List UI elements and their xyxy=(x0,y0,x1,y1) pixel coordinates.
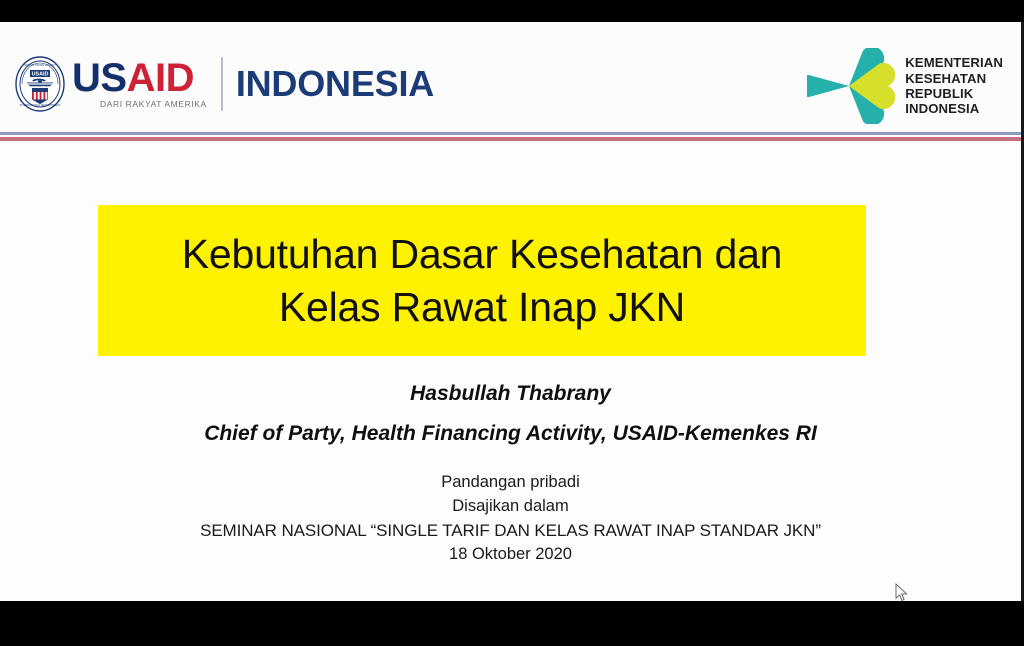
presentation-slide: UNITED STATES AGENCY INTERNATIONAL DEVEL… xyxy=(0,22,1021,601)
slide-title-line-1: Kebutuhan Dasar Kesehatan dan xyxy=(182,228,783,280)
video-player-frame: UNITED STATES AGENCY INTERNATIONAL DEVEL… xyxy=(0,0,1024,646)
author-block: Hasbullah Thabrany Chief of Party, Healt… xyxy=(0,378,1021,450)
kemenkes-line-3: REPUBLIK xyxy=(905,86,973,101)
kemenkes-petal-logo-icon xyxy=(807,48,895,124)
author-role: Chief of Party, Health Financing Activit… xyxy=(0,418,1021,451)
svg-text:USAID: USAID xyxy=(32,72,49,78)
usaid-country-label: INDONESIA xyxy=(236,66,434,102)
kemenkes-line-2: KESEHATAN xyxy=(905,71,986,86)
meta-line-seminar: SEMINAR NASIONAL “SINGLE TARIF DAN KELAS… xyxy=(0,519,1021,544)
usaid-wordmark: USAID DARI RAKYAT AMERIKA xyxy=(72,59,207,109)
author-name: Hasbullah Thabrany xyxy=(0,378,1021,411)
usaid-word-aid: AID xyxy=(127,56,194,100)
event-meta-block: Pandangan pribadi Disajikan dalam SEMINA… xyxy=(0,471,1021,567)
usaid-seal-icon: UNITED STATES AGENCY INTERNATIONAL DEVEL… xyxy=(14,55,66,113)
mouse-cursor-icon xyxy=(895,583,909,603)
meta-line-presented: Disajikan dalam xyxy=(0,495,1021,519)
usaid-word-us: US xyxy=(72,56,127,100)
kemenkes-line-4: INDONESIA xyxy=(905,101,979,116)
svg-text:UNITED STATES AGENCY: UNITED STATES AGENCY xyxy=(24,63,56,67)
meta-line-date: 18 Oktober 2020 xyxy=(0,543,1021,567)
letterbox-bottom xyxy=(0,601,1024,646)
header-rule-red xyxy=(0,137,1021,141)
usaid-tagline: DARI RAKYAT AMERIKA xyxy=(100,100,207,109)
usaid-logo-lockup: UNITED STATES AGENCY INTERNATIONAL DEVEL… xyxy=(14,52,434,116)
usaid-divider xyxy=(221,57,223,111)
slide-title-line-2: Kelas Rawat Inap JKN xyxy=(279,281,685,333)
kemenkes-ministry-label: KEMENTERIAN KESEHATAN REPUBLIK INDONESIA xyxy=(905,55,1003,116)
kemenkes-logo-lockup: KEMENTERIAN KESEHATAN REPUBLIK INDONESIA xyxy=(807,48,1003,124)
slide-header: UNITED STATES AGENCY INTERNATIONAL DEVEL… xyxy=(0,22,1021,132)
kemenkes-line-1: KEMENTERIAN xyxy=(905,55,1003,70)
letterbox-top xyxy=(0,0,1024,22)
slide-title-highlight: Kebutuhan Dasar Kesehatan dan Kelas Rawa… xyxy=(98,205,866,356)
meta-line-disclaimer: Pandangan pribadi xyxy=(0,471,1021,495)
